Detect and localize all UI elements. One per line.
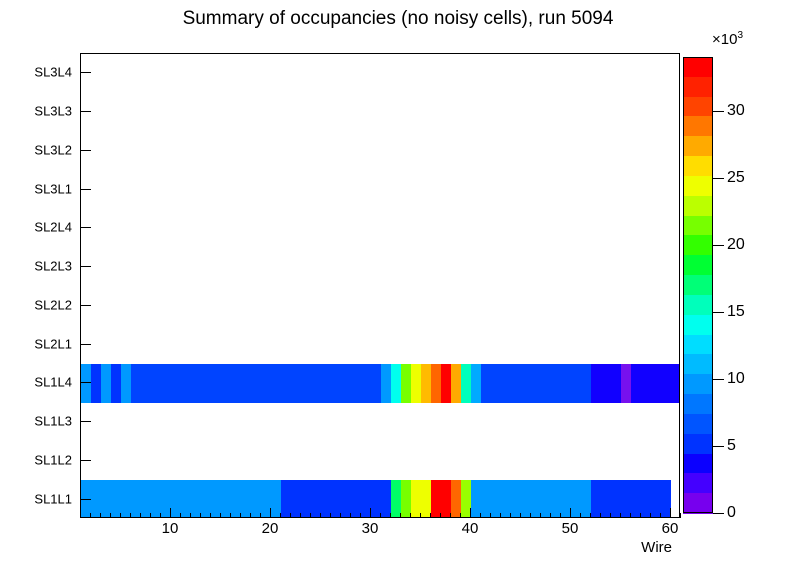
x-axis-minor-tick [440,513,441,518]
x-axis-minor-tick [300,513,301,518]
palette-tick-label: 15 [727,303,745,321]
palette-tick [713,312,724,313]
x-axis-minor-tick [630,513,631,518]
x-axis-minor-tick [390,513,391,518]
palette-band [683,434,713,454]
page-title: Summary of occupancies (no noisy cells),… [0,8,796,30]
palette-tick-label: 0 [727,504,736,522]
x-axis-minor-tick [680,513,681,518]
palette-band [683,473,713,493]
x-axis-tick-label: 60 [662,520,679,537]
palette-band [683,354,713,374]
x-axis-minor-tick [120,513,121,518]
palette-exponent-power: 3 [737,30,743,41]
x-axis-minor-tick [330,513,331,518]
palette-tick [713,178,724,179]
palette-band [683,235,713,255]
x-axis-minor-tick [610,513,611,518]
palette-tick [713,245,724,246]
y-axis-label-sl3l1: SL3L1 [34,181,72,196]
x-axis-minor-tick [660,513,661,518]
palette-band [683,414,713,434]
x-axis-tick-label: 10 [162,520,179,537]
x-axis-minor-tick [580,513,581,518]
x-axis-minor-tick [190,513,191,518]
y-axis-tick [80,344,91,345]
x-axis-minor-tick [150,513,151,518]
x-axis-major-tick [170,508,171,518]
y-axis-label-sl2l4: SL2L4 [34,220,72,235]
x-axis-minor-tick [460,513,461,518]
y-axis-tick [80,150,91,151]
x-axis-minor-tick [360,513,361,518]
y-axis-label-sl1l1: SL1L1 [34,491,72,506]
palette-band [683,176,713,196]
x-axis-minor-tick [510,513,511,518]
x-axis-minor-tick [130,513,131,518]
x-axis-major-tick [270,508,271,518]
x-axis-minor-tick [90,513,91,518]
y-axis-tick [80,111,91,112]
y-axis-label-sl2l2: SL2L2 [34,297,72,312]
palette-tick-label: 25 [727,169,745,187]
palette-band [683,454,713,474]
x-axis-minor-tick [590,513,591,518]
root-canvas: Summary of occupancies (no noisy cells),… [0,0,796,572]
palette-band [683,295,713,315]
palette-band [683,156,713,176]
palette-tick-label: 5 [727,437,736,455]
y-axis-tick [80,189,91,190]
y-axis-tick [80,460,91,461]
x-axis-minor-tick [420,513,421,518]
palette-tick-label: 20 [727,236,745,254]
x-axis-minor-tick [290,513,291,518]
x-axis-minor-tick [180,513,181,518]
x-axis-minor-tick [280,513,281,518]
palette-exponent-base: ×10 [712,31,737,48]
x-axis-minor-tick [490,513,491,518]
x-axis-minor-tick [450,513,451,518]
x-axis-minor-tick [550,513,551,518]
x-axis-minor-tick [520,513,521,518]
x-axis-minor-tick [80,513,81,518]
palette-tick-label: 30 [727,102,745,120]
x-axis-minor-tick [400,513,401,518]
x-axis-title: Wire [0,539,680,556]
palette-tick-label: 10 [727,370,745,388]
x-axis-tick-label: 50 [562,520,579,537]
x-axis-minor-tick [480,513,481,518]
x-axis-major-tick [470,508,471,518]
y-axis-label-sl2l3: SL2L3 [34,259,72,274]
x-axis-tick-label: 20 [262,520,279,537]
palette-axis: 051015202530 [713,57,793,513]
x-axis-minor-tick [240,513,241,518]
x-axis-minor-tick [110,513,111,518]
y-axis-label-sl3l3: SL3L3 [34,104,72,119]
x-axis-major-tick [370,508,371,518]
color-palette [683,57,713,513]
palette-band [683,315,713,335]
x-axis-minor-tick [260,513,261,518]
y-axis-label-sl2l1: SL2L1 [34,336,72,351]
x-axis-minor-tick [430,513,431,518]
x-axis-minor-tick [600,513,601,518]
palette-band [683,255,713,275]
x-axis-minor-tick [200,513,201,518]
y-axis-label-sl1l2: SL1L2 [34,452,72,467]
y-axis-labels: SL3L4SL3L3SL3L2SL3L1SL2L4SL2L3SL2L2SL2L1… [0,53,78,518]
palette-tick [713,379,724,380]
palette-band [683,196,713,216]
x-axis-minor-tick [410,513,411,518]
y-axis-label-sl3l2: SL3L2 [34,142,72,157]
y-axis-tick [80,305,91,306]
palette-band [683,335,713,355]
x-axis-minor-tick [140,513,141,518]
x-axis-minor-tick [350,513,351,518]
x-axis-minor-tick [340,513,341,518]
x-axis-minor-tick [320,513,321,518]
palette-band [683,116,713,136]
x-axis-minor-tick [250,513,251,518]
x-axis-minor-tick [220,513,221,518]
x-axis-minor-tick [620,513,621,518]
y-axis-tick [80,72,91,73]
x-axis-minor-tick [210,513,211,518]
palette-band [683,374,713,394]
palette-band [683,394,713,414]
x-axis-minor-tick [530,513,531,518]
palette-tick [713,111,724,112]
x-axis-minor-tick [160,513,161,518]
y-axis-label-sl3l4: SL3L4 [34,65,72,80]
palette-exponent-label: ×103 [712,30,743,48]
y-axis-tick [80,382,91,383]
x-axis-minor-tick [380,513,381,518]
palette-tick [713,513,724,514]
x-axis-major-tick [570,508,571,518]
palette-tick [713,446,724,447]
x-axis-ticks [80,53,680,518]
y-axis-tick [80,499,91,500]
palette-band [683,77,713,97]
palette-band [683,136,713,156]
palette-band [683,97,713,117]
y-axis-label-sl1l4: SL1L4 [34,375,72,390]
x-axis-minor-tick [100,513,101,518]
x-axis-tick-label: 30 [362,520,379,537]
y-axis-tick [80,227,91,228]
x-axis-minor-tick [230,513,231,518]
x-axis-minor-tick [310,513,311,518]
palette-band [683,57,713,77]
y-axis-label-sl1l3: SL1L3 [34,414,72,429]
x-axis-minor-tick [500,513,501,518]
y-axis-tick [80,266,91,267]
palette-band [683,216,713,236]
x-axis-tick-label: 40 [462,520,479,537]
x-axis-minor-tick [640,513,641,518]
x-axis-minor-tick [540,513,541,518]
x-axis-major-tick [670,508,671,518]
x-axis-minor-tick [560,513,561,518]
x-axis-minor-tick [650,513,651,518]
palette-band [683,275,713,295]
y-axis-tick [80,421,91,422]
palette-band [683,493,713,513]
